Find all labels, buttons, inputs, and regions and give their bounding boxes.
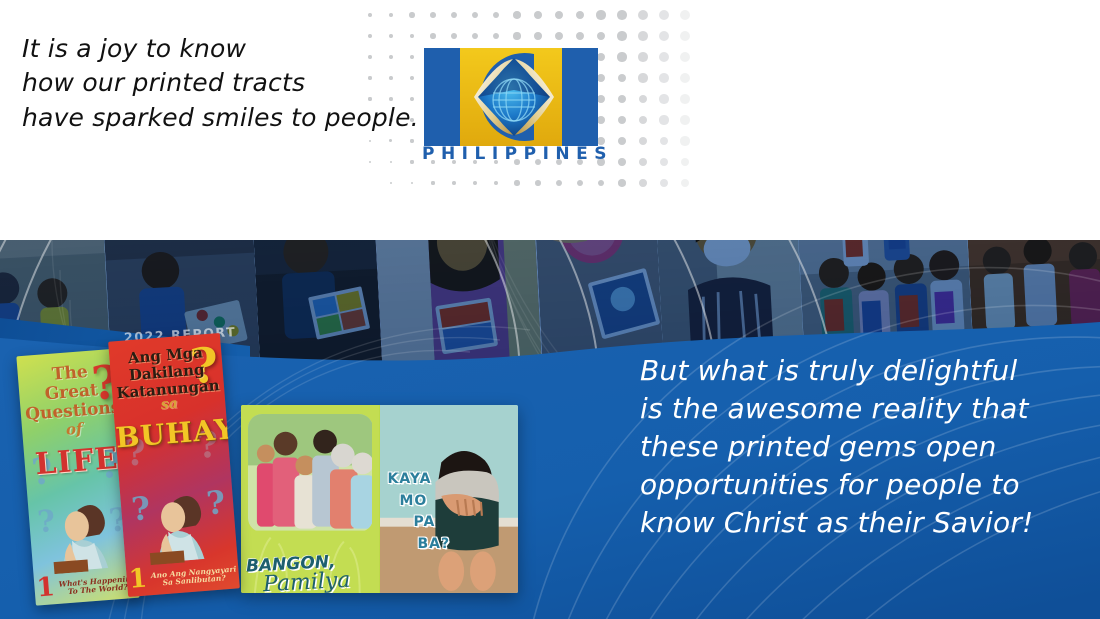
tract2-number: 1 <box>128 567 148 590</box>
headline-line-3: have sparked smiles to people. <box>22 101 422 135</box>
logo-wordmark: PHILIPPINES <box>416 144 606 164</box>
booklet-bangon-pamilya: BANGON, Pamilya <box>241 405 380 593</box>
quote-text: But what is truly delightful is the awes… <box>640 352 1060 542</box>
ici-philippines-logo: PHILIPPINES <box>416 48 606 176</box>
kaya-word-3: PA <box>414 512 451 534</box>
ici-logo-mark <box>416 48 606 146</box>
quote-line-2: is the awesome reality that <box>640 390 1060 428</box>
headline-text: It is a joy to know how our printed trac… <box>22 32 422 135</box>
quote-line-1: But what is truly delightful <box>640 352 1060 390</box>
quote-line-5: know Christ as their Savior! <box>640 504 1060 542</box>
booklet-pair-card: BANGON, Pamilya KAYA MO <box>241 405 518 593</box>
poster-canvas: 2022 REPORT It is a joy to know how our … <box>0 0 1100 619</box>
tract1-subtitle: What's Happening To The World? <box>58 575 137 598</box>
tract2-title: Ang Mga Dakilang Katanungan sa BUHAY <box>108 333 228 454</box>
quote-line-3: these printed gems open <box>640 428 1060 466</box>
quote-line-4: opportunities for people to <box>640 466 1060 504</box>
tract2-illustration <box>143 482 215 565</box>
kaya-title: KAYA MO PA BA? <box>388 469 451 556</box>
kaya-word-4: BA? <box>418 534 451 556</box>
tract2-subtitle: Ano Ang Nangyayari Sa Sanlibutan? <box>151 565 238 589</box>
headline-line-2: how our printed tracts <box>22 66 422 100</box>
tract-cover-dakilang-katanungan-sa-buhay: ? ? ? ? ? Ang Mga Dakilang Katanungan sa… <box>108 333 240 597</box>
headline-line-1: It is a joy to know <box>22 32 422 66</box>
tract1-number: 1 <box>36 576 56 599</box>
tract1-illustration <box>46 491 118 574</box>
tract2-footer: 1 Ano Ang Nangyayari Sa Sanlibutan? <box>126 560 239 591</box>
bangon-family-photo <box>248 414 373 532</box>
kaya-word-2: MO <box>400 491 451 513</box>
kaya-word-1: KAYA <box>388 469 451 491</box>
booklet-kaya-mo-pa-ba: KAYA MO PA BA? <box>380 405 519 593</box>
tract1-footer: 1 What's Happening To The World? <box>34 570 139 600</box>
bangon-title-line-2: Pamilya <box>262 568 351 593</box>
